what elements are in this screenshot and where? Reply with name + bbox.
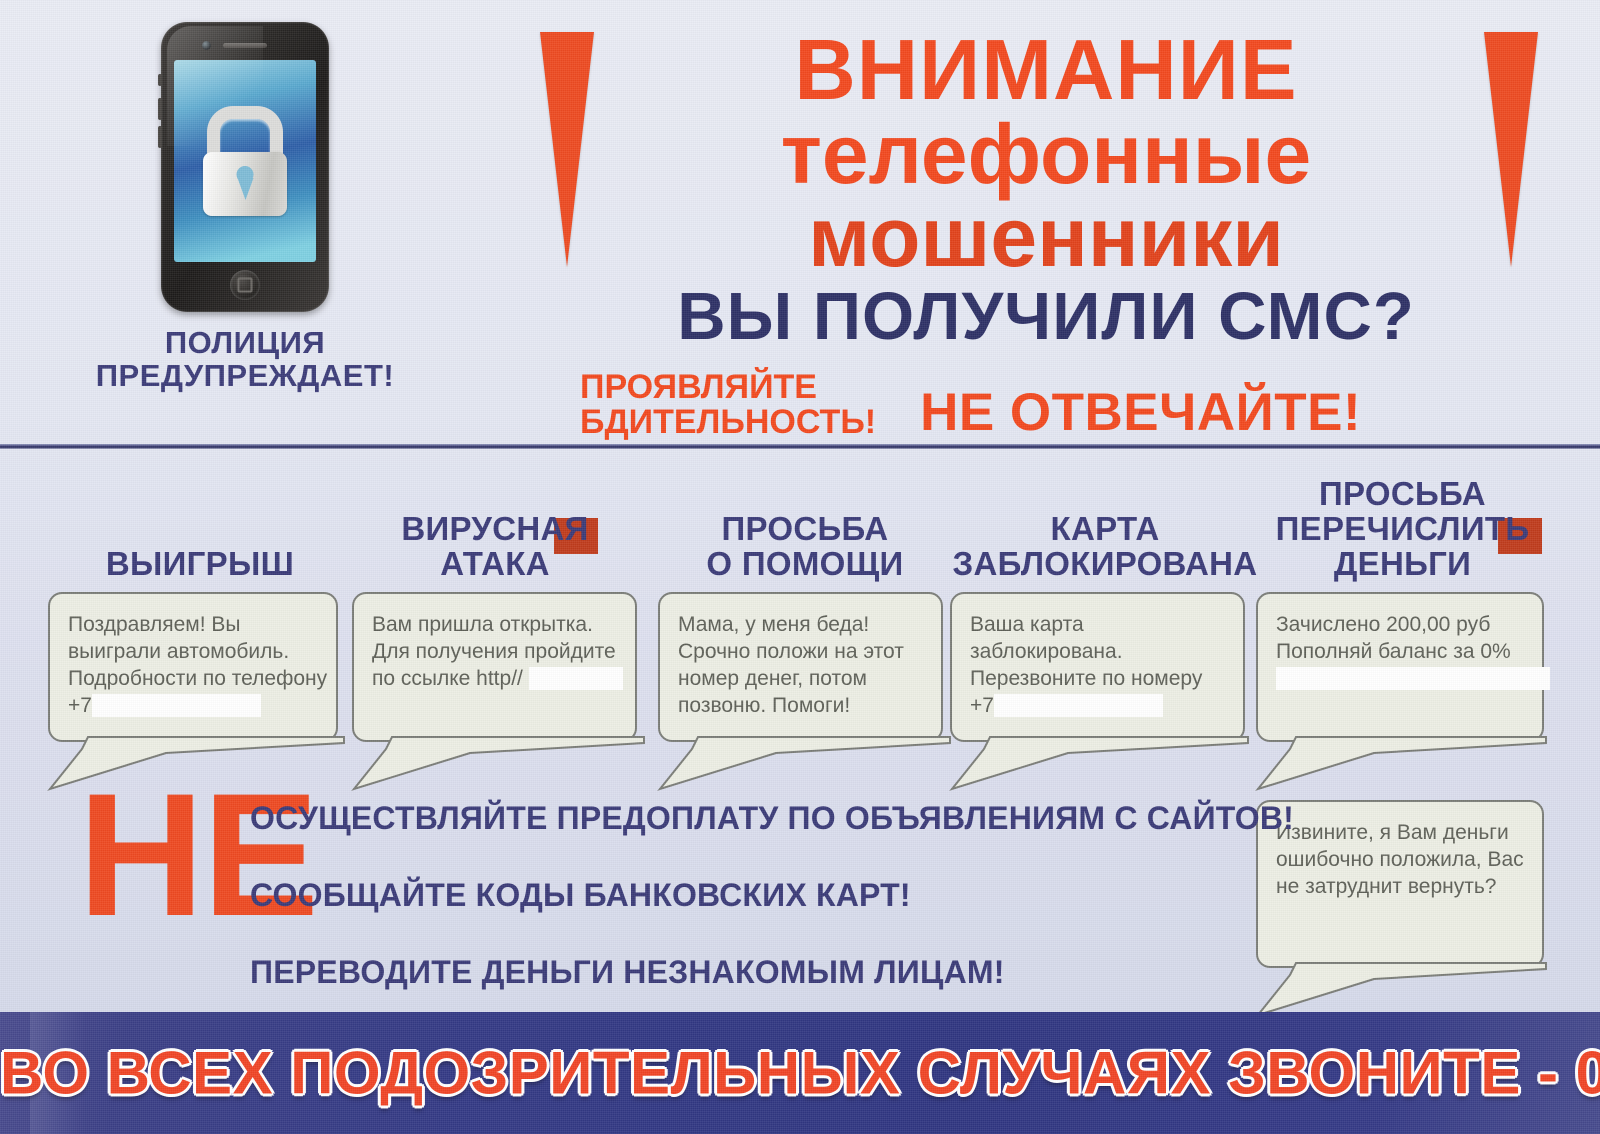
redacted-value: XXXXXXXXXXX <box>92 694 261 717</box>
sms-bubble-prosba-o-pomoshchi: Мама, у меня беда!Срочно положи на этотн… <box>658 592 943 742</box>
sms-line: Вам пришла открытка. <box>372 612 619 639</box>
bubble-tail <box>1256 735 1556 793</box>
scam-warning-poster: ПОЛИЦИЯ ПРЕДУПРЕЖДАЕТ! ВНИМАНИЕ телефонн… <box>0 0 1600 1134</box>
phone-camera-icon <box>202 41 211 50</box>
sms-line: Зачислено 200,00 руб <box>1276 612 1526 639</box>
sms-line: Ваша карта <box>970 612 1227 639</box>
sms-bubble-vyigrysh: Поздравляем! Вывыиграли автомобиль.Подро… <box>48 592 338 742</box>
sms-line: +7XXXXXXXXXXX <box>970 693 1227 720</box>
sms-line: XXXXXXXXXXXXXXXXXX <box>1276 666 1526 693</box>
headline-do-not-answer: НЕ ОТВЕЧАЙТЕ! <box>920 386 1361 439</box>
warning-item-prepayment: ОСУЩЕСТВЛЯЙТЕ ПРЕДОПЛАТУ ПО ОБЪЯВЛЕНИЯМ … <box>250 800 1240 837</box>
redacted-value: XXXXXX <box>529 667 623 690</box>
emergency-call-text: ВО ВСЕХ ПОДОЗРИТЕЛЬНЫХ СЛУЧАЯХ ЗВОНИТЕ -… <box>0 1039 1600 1108</box>
headline-scammers: мошенники <box>636 197 1456 278</box>
sms-line: номер денег, потом <box>678 666 925 693</box>
warning-item-card-codes: СООБЩАЙТЕ КОДЫ БАНКОВСКИХ КАРТ! <box>250 877 1240 914</box>
sms-line: выиграли автомобиль. <box>68 639 320 666</box>
sms-line: Перезвоните по номеру <box>970 666 1227 693</box>
sms-line: заблокирована. <box>970 639 1227 666</box>
headline-did-you-get-sms: ВЫ ПОЛУЧИЛИ СМС? <box>636 283 1456 350</box>
sms-line: Извините, я Вам деньги <box>1276 820 1526 847</box>
sms-bubble-vozvrat-deneg: Извините, я Вам деньгиошибочно положила,… <box>1256 800 1544 968</box>
phone-home-button <box>230 270 260 300</box>
bubble-tail <box>1256 961 1556 1019</box>
warning-item-transfer-money: ПЕРЕВОДИТЕ ДЕНЬГИ НЕЗНАКОМЫМ ЛИЦАМ! <box>250 954 1240 991</box>
headline-block: ВНИМАНИЕ телефонные мошенники ВЫ ПОЛУЧИЛ… <box>540 18 1570 428</box>
lock-icon <box>203 106 287 216</box>
phone-screen <box>174 60 316 262</box>
do-not-warnings-block: НЕ ОСУЩЕСТВЛЯЙТЕ ПРЕДОПЛАТУ ПО ОБЪЯВЛЕНИ… <box>78 790 1238 970</box>
sms-line: Для получения пройдите <box>372 639 619 666</box>
phone-volume-down-button <box>158 126 162 148</box>
lock-body <box>203 152 287 216</box>
warning-list: ОСУЩЕСТВЛЯЙТЕ ПРЕДОПЛАТУ ПО ОБЪЯВЛЕНИЯМ … <box>250 800 1240 991</box>
headline-be-vigilant: ПРОЯВЛЯЙТЕ БДИТЕЛЬНОСТЬ! <box>580 370 876 439</box>
sms-line: Срочно положи на этот <box>678 639 925 666</box>
redacted-value: XXXXXXXXXXXXXXXXXX <box>1276 667 1550 690</box>
locked-phone-icon <box>161 22 329 312</box>
category-title-prosba-perechislit-dengi: ПРОСЬБА ПЕРЕЧИСЛИТЬ ДЕНЬГИ <box>1250 477 1555 582</box>
bubble-tail <box>950 735 1250 793</box>
category-title-karta-zablokirovana: КАРТА ЗАБЛОКИРОВАНА <box>945 512 1265 582</box>
sms-line: Мама, у меня беда! <box>678 612 925 639</box>
sms-line: ошибочно положила, Вас <box>1276 847 1526 874</box>
redacted-value: XXXXXXXXXXX <box>994 694 1163 717</box>
headline-text-group: ВНИМАНИЕ телефонные мошенники ВЫ ПОЛУЧИЛ… <box>636 18 1456 350</box>
phone-side-button <box>158 74 162 86</box>
sms-bubble-karta-zablokirovana: Ваша картазаблокирована.Перезвоните по н… <box>950 592 1245 742</box>
phone-speaker-icon <box>223 43 267 48</box>
emergency-call-banner: ВО ВСЕХ ПОДОЗРИТЕЛЬНЫХ СЛУЧАЯХ ЗВОНИТЕ -… <box>0 1012 1600 1134</box>
sms-bubble-virusnaya-ataka: Вам пришла открытка.Для получения пройди… <box>352 592 637 742</box>
lock-keyhole <box>237 166 254 183</box>
sms-line: по ссылке http// XXXXXX <box>372 666 619 693</box>
bubble-tail <box>658 735 958 793</box>
category-title-virusnaya-ataka: ВИРУСНАЯ АТАКА <box>350 512 640 582</box>
sms-line: Поздравляем! Вы <box>68 612 320 639</box>
sms-line: не затруднит вернуть? <box>1276 874 1526 901</box>
scam-category-headers: ВЫИГРЫШ ВИРУСНАЯ АТАКА ПРОСЬБА О ПОМОЩИ … <box>0 462 1600 582</box>
category-title-vyigrysh: ВЫИГРЫШ <box>55 547 345 582</box>
sms-line: +7XXXXXXXXXXX <box>68 693 320 720</box>
section-divider <box>0 444 1600 449</box>
sms-line: Пополняй баланс за 0% <box>1276 639 1526 666</box>
police-logo-block: ПОЛИЦИЯ ПРЕДУПРЕЖДАЕТ! <box>95 22 395 393</box>
sms-line: позвоню. Помоги! <box>678 693 925 720</box>
sms-bubble-prosba-perechislit-dengi: Зачислено 200,00 рубПополняй баланс за 0… <box>1256 592 1544 742</box>
headline-subtext-row: ПРОЯВЛЯЙТЕ БДИТЕЛЬНОСТЬ! НЕ ОТВЕЧАЙТЕ! <box>580 370 1570 439</box>
poster-header: ПОЛИЦИЯ ПРЕДУПРЕЖДАЕТ! ВНИМАНИЕ телефонн… <box>0 0 1600 446</box>
police-notice-text: ПОЛИЦИЯ ПРЕДУПРЕЖДАЕТ! <box>95 326 395 393</box>
headline-telephone: телефонные <box>636 114 1456 195</box>
category-title-prosba-o-pomoshchi: ПРОСЬБА О ПОМОЩИ <box>655 512 955 582</box>
sms-line: Подробности по телефону <box>68 666 320 693</box>
phone-volume-up-button <box>158 98 162 120</box>
headline-attention: ВНИМАНИЕ <box>636 32 1456 110</box>
bubble-tail <box>352 735 652 793</box>
